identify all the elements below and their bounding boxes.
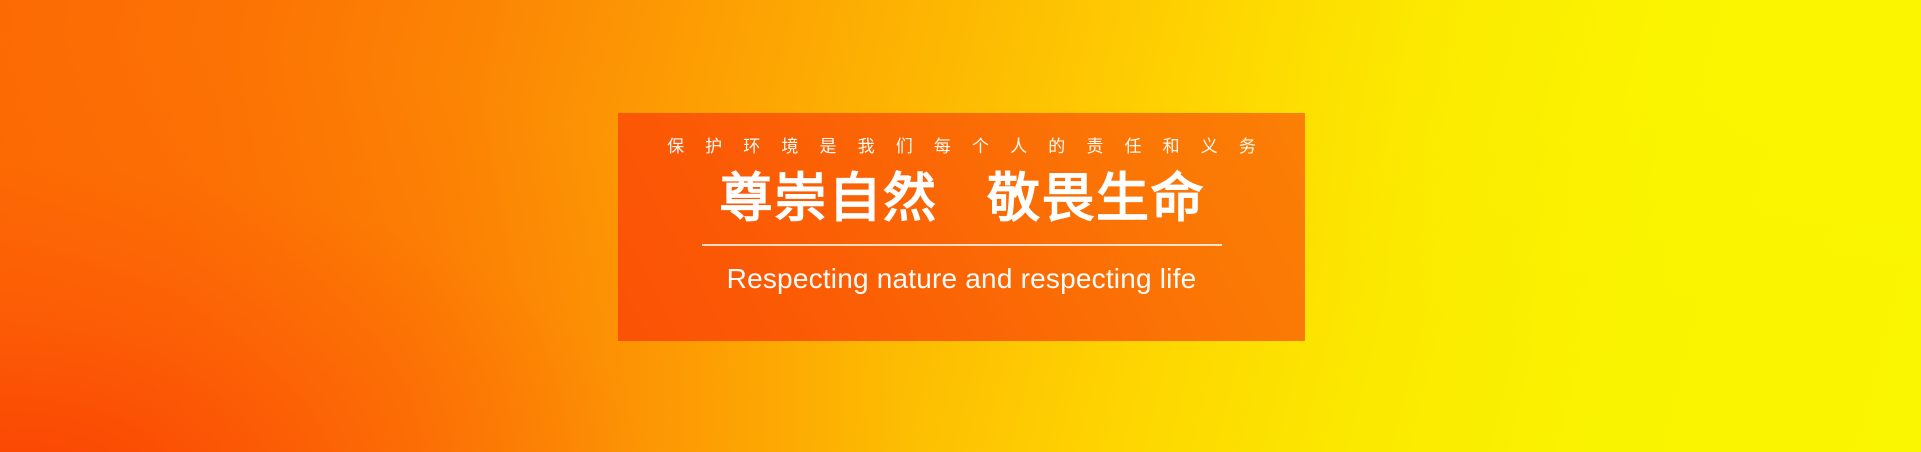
english-subtitle: Respecting nature and respecting life [727,265,1197,293]
environmental-banner: 保 护 环 境 是 我 们 每 个 人 的 责 任 和 义 务 尊崇自然 敬畏生… [0,0,1921,452]
chinese-tagline: 保 护 环 境 是 我 们 每 个 人 的 责 任 和 义 务 [659,138,1264,155]
divider-rule [702,244,1222,246]
headline: 尊崇自然 敬畏生命 [718,172,1205,225]
headline-part-one: 尊崇自然 [720,169,938,228]
message-panel: 保 护 环 境 是 我 们 每 个 人 的 责 任 和 义 务 尊崇自然 敬畏生… [618,113,1305,341]
headline-part-two: 敬畏生命 [987,169,1205,228]
